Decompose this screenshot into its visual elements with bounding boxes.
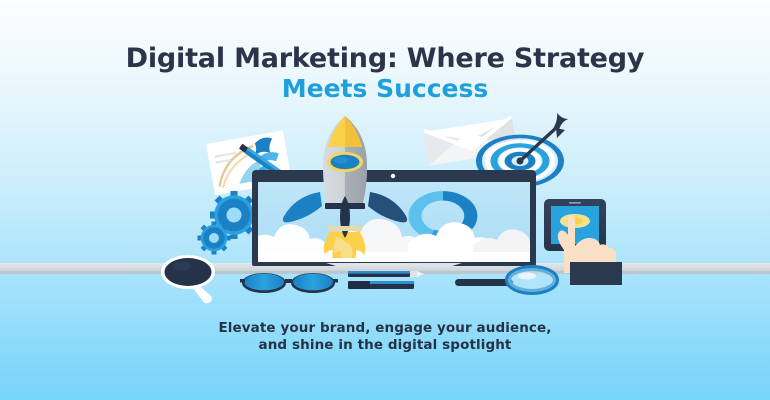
heading-line-1: Digital Marketing: Where Strategy [0,44,770,74]
heading-line-2: Meets Success [0,75,770,103]
pencils [348,271,424,289]
eyeglasses [240,273,338,293]
pencil-top [348,271,424,277]
shirt-cuff [570,262,622,285]
heading-block: Digital Marketing: Where Strategy Meets … [0,44,770,103]
marketing-banner: Digital Marketing: Where Strategy Meets … [0,0,770,400]
subheading-line-1: Elevate your brand, engage your audience… [0,320,770,337]
pencil-bottom [348,281,414,289]
subheading-line-2: and shine in the digital spotlight [0,337,770,354]
monitor-stand [252,258,536,266]
magnifier-dark [161,255,215,303]
subheading-block: Elevate your brand, engage your audience… [0,320,770,354]
webcam-dot [391,174,395,178]
gears [198,191,259,255]
